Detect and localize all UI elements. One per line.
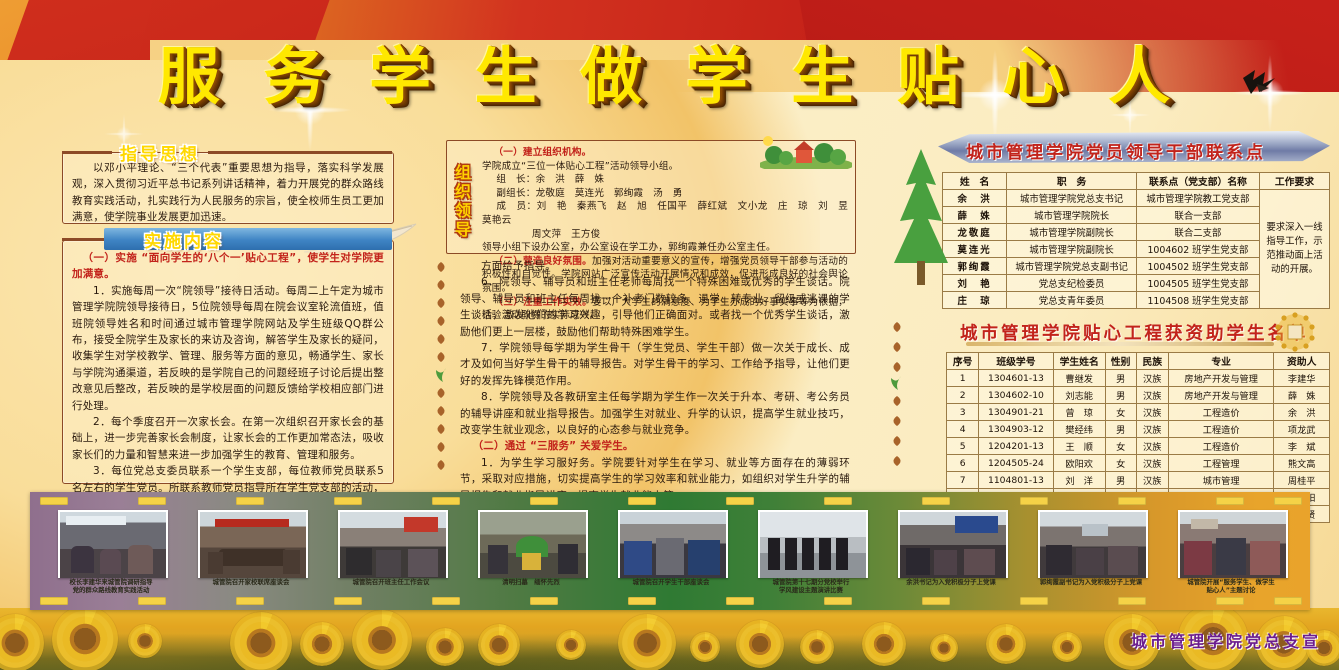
cell-contact: 联合一支部 <box>1136 207 1259 224</box>
cell-major: 房地产开发与管理 <box>1168 387 1274 404</box>
section-title-text: 指导思想 <box>112 140 208 165</box>
photo-image <box>760 512 866 578</box>
film-perforation <box>40 497 68 505</box>
photo-thumbnail[interactable] <box>898 510 1008 578</box>
cell-index: 4 <box>947 421 979 438</box>
cell-contact: 1004602 班学生党支部 <box>1136 241 1259 258</box>
pine-tree-icon <box>888 145 954 290</box>
cell-position: 城市管理学院院长 <box>1007 207 1137 224</box>
cell-sponsor: 李 斌 <box>1274 438 1330 455</box>
content-lead: （一）实施 “面向学生的‘八个一’贴心工程”，使学生对学院更加满意。 <box>72 250 384 283</box>
film-perforation <box>628 597 656 605</box>
content-item: 2．每个季度召开一次家长会。在第一次组织召开家长会的基础上，进一步完善家长会制度… <box>72 414 384 463</box>
film-perforation <box>922 497 950 505</box>
cell-sponsor: 熊文高 <box>1274 455 1330 472</box>
vine-decoration-icon <box>432 258 450 482</box>
th-major: 专业 <box>1168 353 1274 370</box>
vlabel-char: 织 <box>455 183 471 201</box>
sunflower-icon <box>986 624 1026 664</box>
cell-ethnicity: 汉族 <box>1136 472 1168 489</box>
film-perforation <box>138 597 166 605</box>
film-perforation <box>1216 597 1244 605</box>
award-seal-icon <box>1272 312 1318 352</box>
cell-contact: 1004505 班学生党支部 <box>1136 275 1259 292</box>
sunflower-icon <box>1052 632 1082 662</box>
cell-name: 庄 琼 <box>943 292 1007 309</box>
roster-names: 龙敬庭 莫连光 郭绚霞 汤 勇 <box>536 188 683 199</box>
cell-ethnicity: 汉族 <box>1136 421 1168 438</box>
table-row: 2 1304602-10 刘志能 男 汉族 房地产开发与管理 薛 姝 <box>947 387 1330 404</box>
table-row: 7 1104801-13 刘 洋 男 汉族 城市管理 周桂平 <box>947 472 1330 489</box>
sunflower-icon <box>52 608 118 670</box>
cell-class-id: 1204201-13 <box>979 438 1053 455</box>
cell-gender: 男 <box>1105 421 1136 438</box>
cell-contact: 联合二支部 <box>1136 224 1259 241</box>
content-item: 1．实施每周一次“院领导”接待日活动。每周二上午定为城市管理学院院领导接待日，5… <box>72 283 384 414</box>
cell-contact: 1004502 班学生党支部 <box>1136 258 1259 275</box>
film-perforation <box>824 597 852 605</box>
film-perforation <box>1020 497 1048 505</box>
roster-row: 副组长：龙敬庭 莫连光 郭绚霞 汤 勇 <box>482 187 848 201</box>
photo-thumbnail[interactable] <box>338 510 448 578</box>
cell-sponsor: 项龙武 <box>1274 421 1330 438</box>
content-lead: （二）通过 “三服务” 关爱学生。 <box>460 438 850 454</box>
cell-ethnicity: 汉族 <box>1136 455 1168 472</box>
roster-row: 组 长：余 洪 薛 姝 <box>482 173 848 187</box>
film-perforation <box>1118 597 1146 605</box>
cell-ethnicity: 汉族 <box>1136 370 1168 387</box>
cell-student-name: 曹继发 <box>1053 370 1105 387</box>
sunflower-icon <box>862 622 906 666</box>
office-note: 领导小组下设办公室，办公室设在学工办，郭绚霞兼任办公室主任。 <box>482 241 848 255</box>
cell-class-id: 1304901-21 <box>979 404 1053 421</box>
vine-decoration-icon <box>888 318 906 488</box>
th-index: 序号 <box>947 353 979 370</box>
film-perforation <box>334 497 362 505</box>
cell-gender: 男 <box>1105 387 1136 404</box>
film-perforation <box>236 597 264 605</box>
photo-thumbnail[interactable] <box>1038 510 1148 578</box>
film-perforation <box>236 497 264 505</box>
poster-title: 服 务 学 生 做 学 生 贴 心 人 <box>158 26 1181 116</box>
roster-row: 周文萍 王方俊 <box>482 228 848 242</box>
cell-major: 工程造价 <box>1168 438 1274 455</box>
cell-class-id: 1104801-13 <box>979 472 1053 489</box>
film-perforation <box>922 597 950 605</box>
photo-image <box>480 512 586 578</box>
roster-names: 周文萍 王方俊 <box>532 229 601 240</box>
th-ethnicity: 民族 <box>1136 353 1168 370</box>
content-item: 6．院领导、辅导员和班主任老师每周找一个特殊困难或优秀的学生谈话。院领导、辅导员… <box>460 274 850 340</box>
sunflower-icon <box>478 624 520 666</box>
sunflower-icon <box>930 634 958 662</box>
vlabel-char: 组 <box>455 164 471 182</box>
film-perforation <box>628 497 656 505</box>
cell-index: 2 <box>947 387 979 404</box>
th-requirement: 工作要求 <box>1259 173 1329 190</box>
village-illustration-icon <box>760 133 852 169</box>
cell-ethnicity: 汉族 <box>1136 404 1168 421</box>
photo-caption: 城管院第十七期分党校举行 学风建设主题演讲比赛 <box>750 578 872 594</box>
sunflower-icon <box>800 630 834 664</box>
photo-image <box>200 512 306 578</box>
roster-role: 副组长： <box>496 188 535 199</box>
sunflower-icon <box>300 622 344 666</box>
content-item: 7．学院领导每学期为学生骨干（学生党员、学生干部）做一次关于成长、成才及如何当好… <box>460 340 850 389</box>
table-row: 1 1304601-13 曹继发 男 汉族 房地产开发与管理 李建华 <box>947 370 1330 387</box>
film-perforation <box>40 597 68 605</box>
th-student-name: 学生姓名 <box>1053 353 1105 370</box>
photo-caption: 城管院召开学生干部座谈会 <box>610 578 732 586</box>
cell-class-id: 1304601-13 <box>979 370 1053 387</box>
th-sponsor: 资助人 <box>1274 353 1330 370</box>
photo-filmstrip: 校长李建华来城管院调研指导 党的群众路线教育实践活动 城管院召开家校联席座谈会 … <box>30 492 1310 610</box>
cell-index: 5 <box>947 438 979 455</box>
film-perforation <box>138 497 166 505</box>
cell-student-name: 王 顺 <box>1053 438 1105 455</box>
photo-caption: 校长李建华来城管院调研指导 党的群众路线教育实践活动 <box>50 578 172 594</box>
photo-caption: 郭绚霞副书记为入党积极分子上党课 <box>1030 578 1152 586</box>
th-gender: 性别 <box>1105 353 1136 370</box>
table-row: 3 1304901-21 曾 琼 女 汉族 工程造价 余 洪 <box>947 404 1330 421</box>
vlabel-char: 导 <box>455 221 471 239</box>
table1-title: 城市管理学院党员领导干部联系点 <box>966 138 1266 163</box>
cell-student-name: 欧阳欢 <box>1053 455 1105 472</box>
sunflower-icon <box>426 628 464 666</box>
party-leader-contact-table: 姓 名 职 务 联系点（党支部）名称 工作要求 余 洪 城市管理学院党总支书记 … <box>942 172 1330 309</box>
photo-caption: 城管院开展“服务学生、做学生 贴心人”主题讨论 <box>1170 578 1292 594</box>
sunflower-icon <box>556 630 586 660</box>
cell-sponsor: 薛 姝 <box>1274 387 1330 404</box>
photo-image <box>1040 512 1146 578</box>
photo-image <box>60 512 166 578</box>
cell-class-id: 1304903-12 <box>979 421 1053 438</box>
film-perforation <box>530 497 558 505</box>
content-item: 8．学院领导及各教研室主任每学期为学生作一次关于升本、考研、考公务员的辅导讲座和… <box>460 389 850 438</box>
cell-position: 城市管理学院副院长 <box>1007 224 1137 241</box>
film-perforation <box>432 497 460 505</box>
cell-major: 工程造价 <box>1168 421 1274 438</box>
film-perforation <box>1020 597 1048 605</box>
sunflower-icon <box>128 624 162 658</box>
cell-index: 3 <box>947 404 979 421</box>
roster-role: 成 员： <box>496 201 536 212</box>
photo-image <box>340 512 446 578</box>
cell-major: 房地产开发与管理 <box>1168 370 1274 387</box>
roster-row: 成 员：刘 艳 秦燕飞 赵 旭 任国平 薛红斌 文小龙 庄 琼 刘 昱 莫艳云 <box>482 200 848 227</box>
cell-position: 城市管理学院党总支副书记 <box>1007 258 1137 275</box>
cell-requirement: 要求深入一线指导工作，示范推动面上活动的开展。 <box>1259 190 1329 309</box>
cell-major: 工程管理 <box>1168 455 1274 472</box>
cell-contact: 1104508 班学生党支部 <box>1136 292 1259 309</box>
poster-title-wrap: 服 务 学 生 做 学 生 贴 心 人 <box>0 26 1339 106</box>
guiding-thought-text: 以邓小平理论、“三个代表”重要思想为指导，落实科学发展观，深入贯彻习近平总书记系… <box>72 160 384 226</box>
poster-root: 服 务 学 生 做 学 生 贴 心 人 指导思想 以邓小平理论、“三个代表”重要… <box>0 0 1339 670</box>
continued-line: 方面给予指导。 <box>460 258 850 274</box>
photo-caption: 城管院召开班主任工作会议 <box>330 578 452 586</box>
cell-sponsor: 余 洪 <box>1274 404 1330 421</box>
photo-thumbnail[interactable] <box>478 510 588 578</box>
section-title-text: 实施内容 <box>136 227 232 252</box>
cell-student-name: 樊经纬 <box>1053 421 1105 438</box>
cell-sponsor: 李建华 <box>1274 370 1330 387</box>
film-perforation <box>334 597 362 605</box>
film-perforation <box>824 497 852 505</box>
photo-thumbnail[interactable] <box>1178 510 1288 578</box>
table-row: 6 1204505-24 欧阳欢 女 汉族 工程管理 熊文高 <box>947 455 1330 472</box>
cell-student-name: 曾 琼 <box>1053 404 1105 421</box>
table-header-row: 姓 名 职 务 联系点（党支部）名称 工作要求 <box>943 173 1330 190</box>
cell-major: 城市管理 <box>1168 472 1274 489</box>
cell-index: 7 <box>947 472 979 489</box>
photo-image <box>900 512 1006 578</box>
cell-class-id: 1304602-10 <box>979 387 1053 404</box>
th-contact: 联系点（党支部）名称 <box>1136 173 1259 190</box>
cell-class-id: 1204505-24 <box>979 455 1053 472</box>
film-perforation <box>1216 497 1244 505</box>
cell-major: 工程造价 <box>1168 404 1274 421</box>
section-heading-content: 实施内容 <box>62 228 392 250</box>
cell-gender: 女 <box>1105 404 1136 421</box>
cell-ethnicity: 汉族 <box>1136 387 1168 404</box>
film-perforation <box>432 597 460 605</box>
cell-gender: 女 <box>1105 438 1136 455</box>
film-perforation <box>726 597 754 605</box>
cell-ethnicity: 汉族 <box>1136 438 1168 455</box>
cell-sponsor: 周桂平 <box>1274 472 1330 489</box>
sunflower-icon <box>230 612 292 670</box>
table-header-row: 序号 班级学号 学生姓名 性别 民族 专业 资助人 <box>947 353 1330 370</box>
photo-thumbnail[interactable] <box>758 510 868 578</box>
cell-gender: 女 <box>1105 455 1136 472</box>
photo-thumbnail[interactable] <box>198 510 308 578</box>
sunflower-icon <box>736 620 784 668</box>
cell-index: 6 <box>947 455 979 472</box>
swallow-icon <box>1239 66 1279 100</box>
photo-image <box>620 512 726 578</box>
vlabel-char: 领 <box>455 202 471 220</box>
sunflower-icon <box>618 614 676 670</box>
photo-caption: 余洪书记为入党积极分子上党课 <box>890 578 1012 586</box>
cell-student-name: 刘志能 <box>1053 387 1105 404</box>
film-perforation <box>530 597 558 605</box>
cell-contact: 城市管理学院教工党支部 <box>1136 190 1259 207</box>
cell-position: 城市管理学院副院长 <box>1007 241 1137 258</box>
roster-role: 组 长： <box>496 174 535 185</box>
photo-image <box>1180 512 1286 578</box>
cell-student-name: 刘 洋 <box>1053 472 1105 489</box>
cell-position: 城市管理学院党总支书记 <box>1007 190 1137 207</box>
film-perforation <box>1118 497 1146 505</box>
section-heading-guiding: 指导思想 <box>62 140 392 165</box>
photo-caption: 清明扫墓 缅怀先烈 <box>470 578 592 586</box>
table2-title: 城市管理学院贴心工程获资助学生名单 <box>960 320 1309 345</box>
photo-caption: 城管院召开家校联席座谈会 <box>190 578 312 586</box>
footer-signature: 城市管理学院党总支宣 <box>1131 628 1321 652</box>
th-position: 职 务 <box>1007 173 1137 190</box>
table-row: 5 1204201-13 王 顺 女 汉族 工程造价 李 斌 <box>947 438 1330 455</box>
cell-position: 党总支纪检委员 <box>1007 275 1137 292</box>
photo-thumbnail[interactable] <box>58 510 168 578</box>
th-class-id: 班级学号 <box>979 353 1053 370</box>
table-row: 余 洪 城市管理学院党总支书记 城市管理学院教工党支部 要求深入一线指导工作，示… <box>943 190 1330 207</box>
film-perforation <box>1274 597 1302 605</box>
cell-index: 1 <box>947 370 979 387</box>
cell-position: 党总支青年委员 <box>1007 292 1137 309</box>
table-row: 4 1304903-12 樊经纬 男 汉族 工程造价 项龙武 <box>947 421 1330 438</box>
film-perforation <box>726 497 754 505</box>
paragraph: 以邓小平理论、“三个代表”重要思想为指导，落实科学发展观，深入贯彻习近平总书记系… <box>72 160 384 226</box>
sunflower-icon <box>690 632 720 662</box>
roster-names: 余 洪 薛 姝 <box>536 174 605 185</box>
cell-gender: 男 <box>1105 472 1136 489</box>
film-perforation <box>1274 497 1302 505</box>
cell-gender: 男 <box>1105 370 1136 387</box>
org-leadership-vertical-label: 组 织 领 导 <box>450 158 476 244</box>
roster-names: 刘 艳 秦燕飞 赵 旭 任国平 薛红斌 文小龙 庄 琼 刘 昱 莫艳云 <box>482 201 858 226</box>
photo-thumbnail[interactable] <box>618 510 728 578</box>
sunflower-icon <box>352 610 412 670</box>
